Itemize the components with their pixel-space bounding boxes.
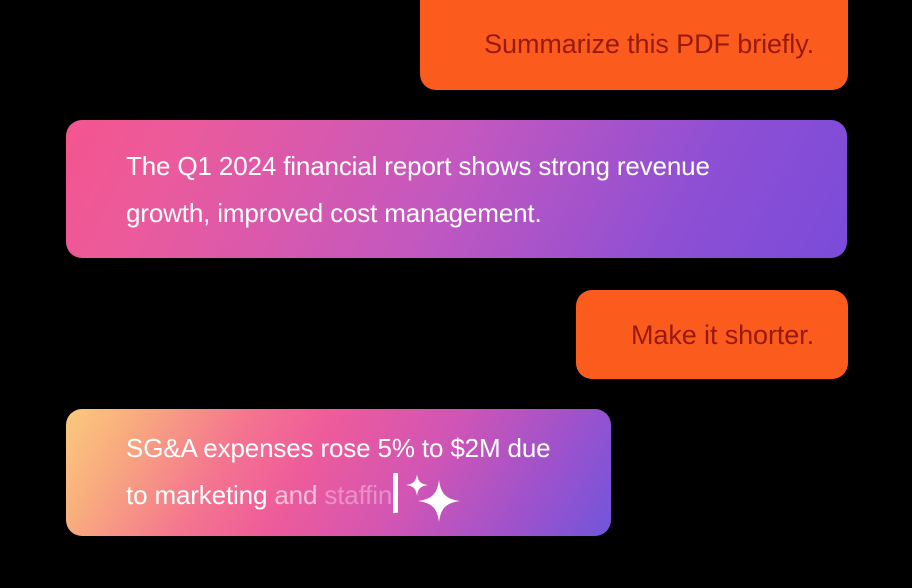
message-line-2: growth, improved cost management. (126, 190, 710, 237)
chat-conversation-canvas: Summarize this PDF briefly. The Q1 2024 … (0, 0, 912, 588)
message-text-fading-b: staffin (324, 480, 392, 510)
message-line-2-streaming: to marketing and staffin (126, 472, 550, 521)
message-text-solid: to marketing (126, 480, 267, 510)
message-text: Make it shorter. (631, 318, 814, 352)
sparkle-large-icon (418, 480, 460, 522)
message-text-block: SG&A expenses rose 5% to $2M due to mark… (96, 423, 550, 521)
message-line-1: SG&A expenses rose 5% to $2M due (126, 425, 550, 472)
message-bubble-assistant-1[interactable]: The Q1 2024 financial report shows stron… (66, 120, 847, 258)
message-text: Summarize this PDF briefly. (484, 11, 814, 61)
message-bubble-user-1[interactable]: Summarize this PDF briefly. (420, 0, 848, 90)
text-caret (393, 473, 398, 513)
message-bubble-assistant-2-streaming[interactable]: SG&A expenses rose 5% to $2M due to mark… (66, 409, 611, 536)
message-line-1: The Q1 2024 financial report shows stron… (126, 143, 710, 190)
sparkle-icon (400, 474, 456, 522)
message-text-block: The Q1 2024 financial report shows stron… (96, 141, 710, 237)
message-bubble-user-2[interactable]: Make it shorter. (576, 290, 848, 379)
message-text-fading-a: and (267, 480, 324, 510)
